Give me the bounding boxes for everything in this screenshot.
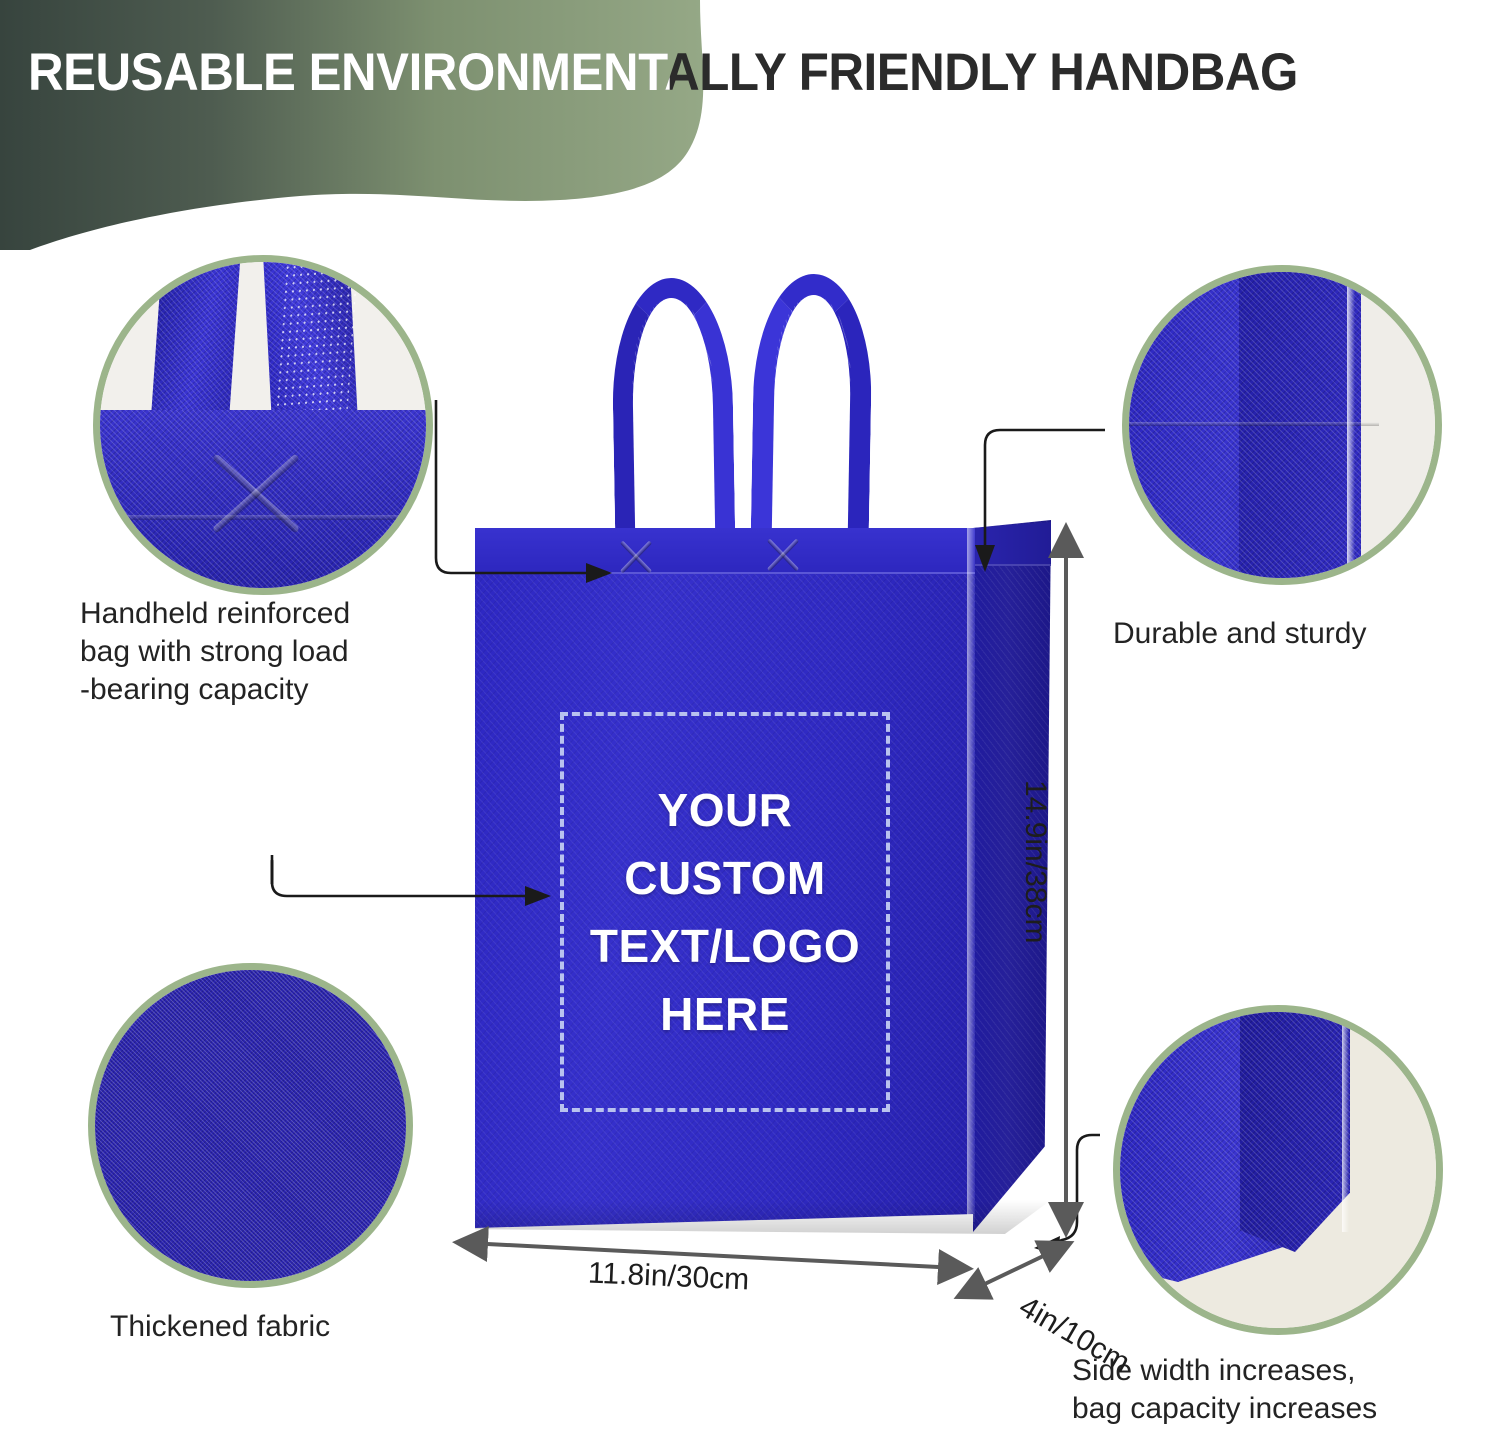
dimension-label-width: 11.8in/30cm [587, 1257, 750, 1298]
caption-line: Thickened fabric [110, 1308, 510, 1346]
feature-caption-side-width: Side width increases, bag capacity incre… [1072, 1352, 1500, 1428]
depth-arrow [968, 1248, 1060, 1292]
feature-caption-handheld-reinforced: Handheld reinforced bag with strong load… [80, 595, 500, 709]
feature-caption-durable-sturdy: Durable and sturdy [1113, 615, 1500, 653]
caption-line: bag with strong load [80, 633, 500, 671]
caption-line: bag capacity increases [1072, 1390, 1500, 1428]
caption-line: -bearing capacity [80, 671, 500, 709]
caption-line: Handheld reinforced [80, 595, 500, 633]
dimension-arrows [0, 0, 1500, 1443]
dimension-label-height: 14.9in/38cm [1018, 780, 1052, 943]
caption-line: Durable and sturdy [1113, 615, 1500, 653]
caption-line: Side width increases, [1072, 1352, 1500, 1390]
feature-caption-thickened-fabric: Thickened fabric [110, 1308, 510, 1346]
